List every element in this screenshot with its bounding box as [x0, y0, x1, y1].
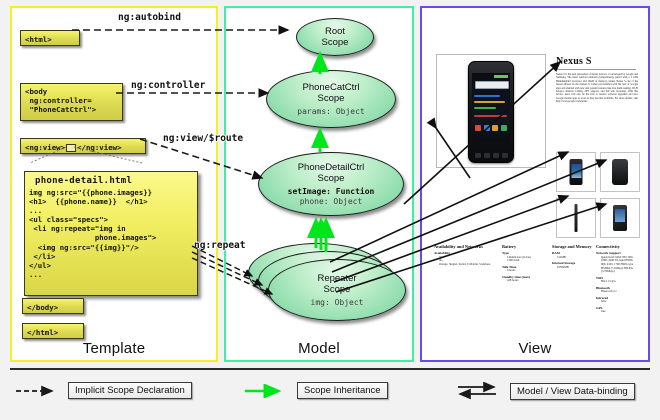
connector-label-controller: ng:controller [131, 80, 205, 91]
spec-column-battery: Battery Type Lithium Ion (Li-Ion) 1500 m… [502, 244, 552, 314]
sticky-note-phone-detail[interactable]: phone-detail.html img ng:src="{{phone.im… [24, 171, 198, 296]
legend-label-scope-inheritance: Scope Inheritance [297, 382, 388, 399]
spec-header-connectivity: Connectivity [596, 244, 638, 249]
phone-screen-bar-blue [474, 95, 500, 97]
thumbnail-grid [556, 152, 640, 238]
scope-phonecatctrl[interactable]: PhoneCatCtrl Scope params: Object [266, 70, 396, 128]
title-divider [556, 69, 636, 70]
scope-repeater[interactable]: Repeater Scope img: Object [268, 259, 406, 321]
specs-table: Availability and Networks Availability 3… [434, 244, 640, 314]
phone-nav-keys [473, 152, 509, 159]
panel-label-view: View [422, 340, 648, 357]
phone-app-icon-4 [501, 125, 507, 131]
phone-nav-key-home [484, 153, 490, 158]
spec-column-storage: Storage and Memory RAM 512MB Internal St… [552, 244, 596, 314]
ngview-close-tag: </ng:view> [77, 143, 122, 152]
code-block-body-open[interactable]: <body ng:controller= "PhoneCatCtrl"> [20, 83, 123, 121]
phone-front-icon [570, 159, 583, 185]
legend-item-scope-inheritance: Scope Inheritance [243, 382, 388, 399]
scope-phonecatctrl-prop-params: params: Object [297, 107, 364, 117]
legend-item-implicit-scope: Implicit Scope Declaration [14, 382, 192, 399]
ngview-slot-icon [66, 144, 76, 152]
phone-screen-bar-red [474, 115, 507, 117]
phone-nav-key-menu [493, 153, 499, 158]
thumbnail-edge[interactable] [556, 198, 596, 238]
spec-value-battery-talk-0: 6 hours [502, 269, 550, 273]
legend-swatch-dashed-arrow [14, 384, 60, 398]
phone-app-icon-3 [492, 125, 498, 131]
spec-value-wifi-0: 802.11 b/g/n [596, 280, 638, 284]
connector-label-repeat: ng:repeat [194, 240, 245, 251]
legend-divider [10, 368, 650, 370]
spec-column-connectivity: Connectivity Network Support Quad-band G… [596, 244, 640, 314]
scope-repeater-line1: Repeater [317, 273, 356, 284]
legend: Implicit Scope Declaration Scope Inherit… [0, 368, 660, 420]
scope-root-line1: Root [325, 26, 345, 37]
legend-swatch-green-arrow [243, 384, 289, 398]
thumbnail-angle[interactable] [600, 198, 640, 238]
ngview-open-tag: <ng:view> [25, 143, 65, 152]
spec-header-availability: Availability and Networks [434, 244, 500, 249]
scope-phonecatctrl-line1: PhoneCatCtrl [302, 82, 359, 93]
legend-label-data-binding: Model / View Data-binding [510, 383, 635, 400]
panel-model: Root Scope PhoneCatCtrl Scope params: Ob… [224, 6, 414, 362]
connector-label-view-route: ng:view/$route [163, 133, 243, 144]
spec-value-battery-type-1: 1500 mAh [502, 259, 550, 263]
phone-edge-icon [575, 204, 578, 232]
phone-device-illustration [468, 61, 514, 163]
phone-screen [472, 73, 510, 141]
code-block-body-close[interactable]: </body> [22, 298, 84, 314]
scope-repeater-line2: Scope [324, 284, 351, 295]
spec-value-internal-storage-0: 16384MB [552, 266, 594, 270]
phone-screen-bar-yellow [474, 101, 505, 103]
code-block-html-close[interactable]: </html> [22, 323, 84, 339]
scope-phonedetailctrl[interactable]: PhoneDetailCtrl Scope setImage: Function… [258, 152, 404, 216]
phone-nav-key-back [475, 153, 481, 158]
phone-hero-image[interactable] [436, 54, 546, 168]
panel-label-model: Model [226, 340, 412, 357]
panel-template: <html> <body ng:controller= "PhoneCatCtr… [10, 6, 218, 362]
spec-value-gps-0: true [596, 310, 638, 314]
thumbnail-back[interactable] [600, 152, 640, 192]
phone-search-widget [475, 81, 509, 89]
view-rendered-page: Nexus S Nexus S is the next generation o… [428, 16, 642, 336]
phone-nav-key-search [502, 153, 508, 158]
spec-value-ram-0: 512MB [552, 256, 594, 260]
panel-view: Nexus S Nexus S is the next generation o… [420, 6, 650, 362]
scope-root-line2: Scope [322, 37, 349, 48]
code-block-html-open[interactable]: <html> [20, 30, 80, 46]
spec-value-infrared-0: false [596, 300, 638, 304]
legend-swatch-double-arrow [456, 382, 502, 400]
product-description: Nexus S is the next generation of Nexus … [556, 73, 638, 104]
scope-phonecatctrl-line2: Scope [318, 93, 345, 104]
thumbnail-front[interactable] [556, 152, 596, 192]
phone-app-icons [475, 125, 507, 131]
scope-phonedetailctrl-prop-phone: phone: Object [300, 197, 363, 207]
panel-label-template: Template [12, 340, 216, 357]
phone-statusbar-icon [494, 75, 508, 78]
product-title: Nexus S [556, 56, 592, 67]
spec-value-network-0: Quad-band GSM: 850, 900, 1800, 1900 Tri-… [596, 256, 638, 275]
phone-angle-icon [613, 205, 627, 231]
spec-header-battery: Battery [502, 244, 550, 249]
spec-value-availability-2: Orange, Singtel, Sprint, T-Mobile, Vodaf… [434, 263, 500, 267]
scope-repeater-prop-img: img: Object [311, 298, 364, 308]
scope-phonedetailctrl-line1: PhoneDetailCtrl [298, 162, 365, 173]
note-filename: phone-detail.html [25, 172, 197, 188]
connector-label-autobind: ng:autobind [118, 12, 181, 23]
scope-phonedetailctrl-prop-setimage: setImage: Function [288, 187, 375, 197]
scope-root[interactable]: Root Scope [296, 18, 374, 56]
phone-app-icon-2 [484, 125, 490, 131]
diagram-canvas: <html> <body ng:controller= "PhoneCatCtr… [0, 0, 660, 420]
spec-header-storage: Storage and Memory [552, 244, 594, 249]
phone-app-icon-1 [475, 125, 481, 131]
scope-phonedetailctrl-line2: Scope [318, 173, 345, 184]
spec-column-availability: Availability and Networks Availability 3… [434, 244, 502, 314]
legend-item-data-binding: Model / View Data-binding [456, 382, 635, 400]
spec-value-bluetooth-0: Bluetooth 2.1 [596, 290, 638, 294]
code-block-ngview[interactable]: <ng:view></ng:view> [20, 138, 146, 154]
spec-value-battery-standby-0: 428 hours [502, 279, 550, 283]
legend-label-implicit-scope: Implicit Scope Declaration [68, 382, 192, 399]
phone-back-icon [612, 159, 628, 185]
phone-screen-bar-green [474, 107, 496, 109]
note-code: img ng:src="{{phone.images}} <h1> {{phon… [25, 188, 197, 279]
